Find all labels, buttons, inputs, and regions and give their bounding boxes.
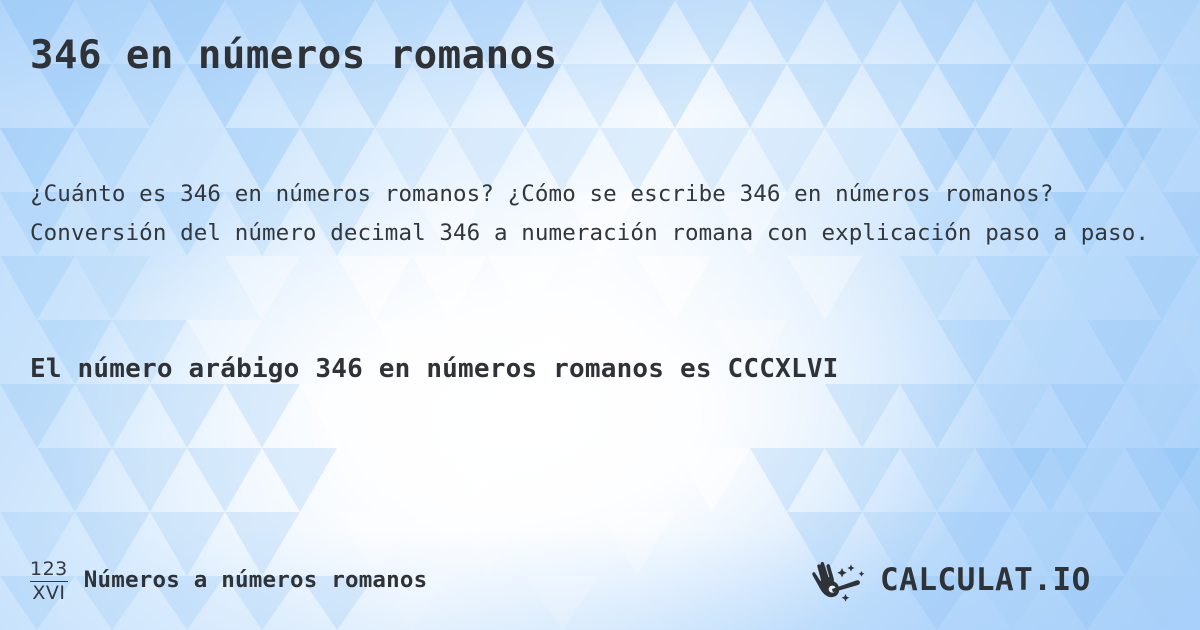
fraction-numerator: 123 (30, 560, 68, 582)
page-title: 346 en números romanos (30, 32, 558, 80)
hand-magic-wand-icon (812, 558, 874, 602)
numbers-to-roman-icon: 123 XVI (30, 560, 68, 603)
intro-paragraph: ¿Cuánto es 346 en números romanos? ¿Cómo… (30, 175, 1170, 253)
footer-section-label: Números a números romanos (84, 567, 428, 593)
footer-brand-left[interactable]: 123 XVI Números a números romanos (30, 558, 427, 603)
site-logo-text: CALCULAT.IO (880, 562, 1091, 598)
site-logo[interactable]: CALCULAT.IO (812, 558, 1170, 602)
footer: 123 XVI Números a números romanos (0, 552, 1200, 608)
site-logo-wordmark: CALCULAT.IO (880, 560, 1170, 600)
answer-statement: El número arábigo 346 en números romanos… (30, 348, 1160, 390)
og-image-card: 346 en números romanos ¿Cuánto es 346 en… (0, 0, 1200, 630)
card-content: 346 en números romanos ¿Cuánto es 346 en… (0, 0, 1200, 630)
fraction-denominator: XVI (32, 582, 65, 603)
